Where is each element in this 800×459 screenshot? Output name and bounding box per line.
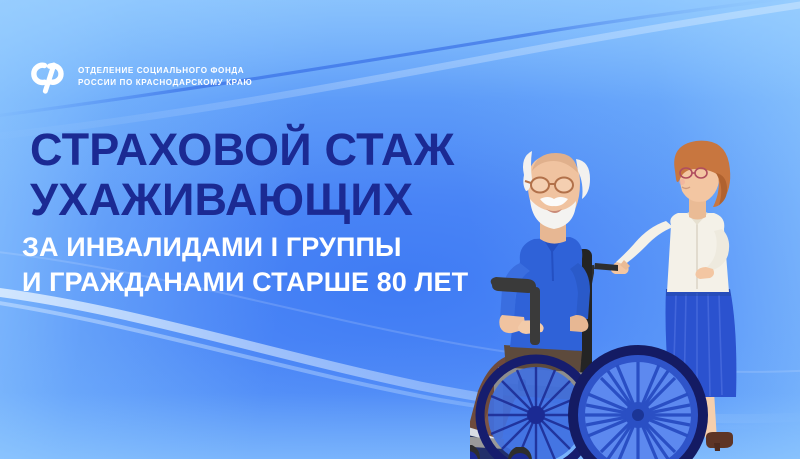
headline-line1: СТРАХОВОЙ СТАЖ — [30, 126, 455, 173]
sfr-monogram-logo-icon — [27, 55, 67, 99]
logo-text-line1: ОТДЕЛЕНИЕ СОЦИАЛЬНОГО ФОНДА — [78, 65, 252, 77]
woman-cheek — [679, 179, 685, 185]
banner-subtitle: ЗА ИНВАЛИДАМИ I ГРУППЫ И ГРАЖДАНАМИ СТАР… — [22, 230, 468, 299]
organization-logo: ОТДЕЛЕНИЕ СОЦИАЛЬНОГО ФОНДА РОССИИ ПО КР… — [27, 55, 252, 99]
man-polo-shirt — [510, 237, 582, 351]
logo-text-block: ОТДЕЛЕНИЕ СОЦИАЛЬНОГО ФОНДА РОССИИ ПО КР… — [78, 65, 252, 89]
wheel-hub-center-near — [632, 409, 644, 421]
wheel-hub-far — [527, 406, 545, 424]
social-fund-banner: ОТДЕЛЕНИЕ СОЦИАЛЬНОГО ФОНДА РОССИИ ПО КР… — [0, 0, 800, 459]
woman-neck — [689, 199, 706, 220]
wheelchair-armrest-post — [530, 287, 540, 345]
subtitle-line1: ЗА ИНВАЛИДАМИ I ГРУППЫ — [22, 230, 468, 265]
logo-text-line2: РОССИИ ПО КРАСНОДАРСКОМУ КРАЮ — [78, 77, 252, 89]
caregiver-wheelchair-illustration — [470, 129, 800, 459]
subtitle-line2: И ГРАЖДАНАМИ СТАРШЕ 80 ЛЕТ — [22, 265, 468, 300]
woman-heel-front — [714, 443, 720, 451]
wheelchair-armrest — [491, 277, 536, 293]
man-polo-placket — [552, 249, 553, 281]
headline-line2: УХАЖИВАЮЩИХ — [30, 176, 455, 223]
banner-headline: СТРАХОВОЙ СТАЖ УХАЖИВАЮЩИХ — [30, 126, 455, 224]
